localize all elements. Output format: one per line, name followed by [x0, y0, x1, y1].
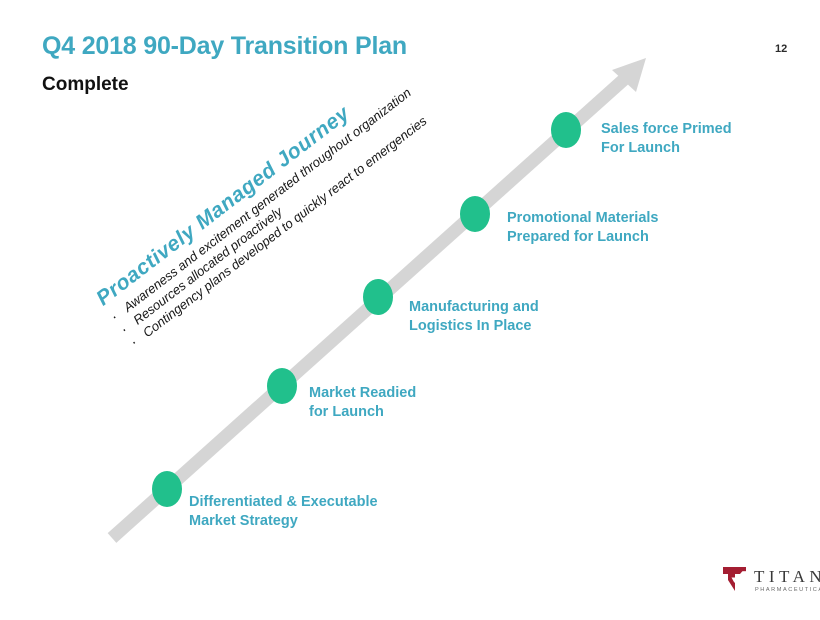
milestone-label-line2: Prepared for Launch	[507, 228, 658, 247]
milestone-label-line1: Promotional Materials	[507, 209, 658, 228]
titan-wordmark: TITAN	[754, 567, 820, 587]
milestone-label-market-readied: Market Readied for Launch	[309, 384, 416, 421]
titan-logo-mark-icon	[722, 564, 752, 594]
milestone-label-manufacturing-logistics: Manufacturing and Logistics In Place	[409, 298, 539, 335]
milestone-label-line1: Market Readied	[309, 384, 416, 403]
milestone-label-differentiated-market-strategy: Differentiated & Executable Market Strat…	[189, 493, 378, 530]
milestone-label-line2: For Launch	[601, 139, 732, 158]
milestone-label-line1: Differentiated & Executable	[189, 493, 378, 512]
milestone-node-1[interactable]	[152, 471, 182, 507]
titan-tagline: PHARMACEUTICALS	[755, 587, 820, 593]
milestone-label-line1: Sales force Primed	[601, 120, 732, 139]
milestone-label-sales-force-primed: Sales force Primed For Launch	[601, 120, 732, 157]
milestone-label-line2: Logistics In Place	[409, 317, 539, 336]
titan-pharmaceuticals-logo: TITAN PHARMACEUTICALS	[722, 562, 816, 600]
milestone-label-promotional-materials: Promotional Materials Prepared for Launc…	[507, 209, 658, 246]
milestone-node-5[interactable]	[551, 112, 581, 148]
milestone-node-3[interactable]	[363, 279, 393, 315]
milestone-label-line2: for Launch	[309, 403, 416, 422]
slide-canvas: Q4 2018 90-Day Transition Plan Complete …	[0, 0, 820, 620]
milestone-label-line2: Market Strategy	[189, 512, 378, 531]
milestone-node-4[interactable]	[460, 196, 490, 232]
milestone-label-line1: Manufacturing and	[409, 298, 539, 317]
milestone-node-2[interactable]	[267, 368, 297, 404]
